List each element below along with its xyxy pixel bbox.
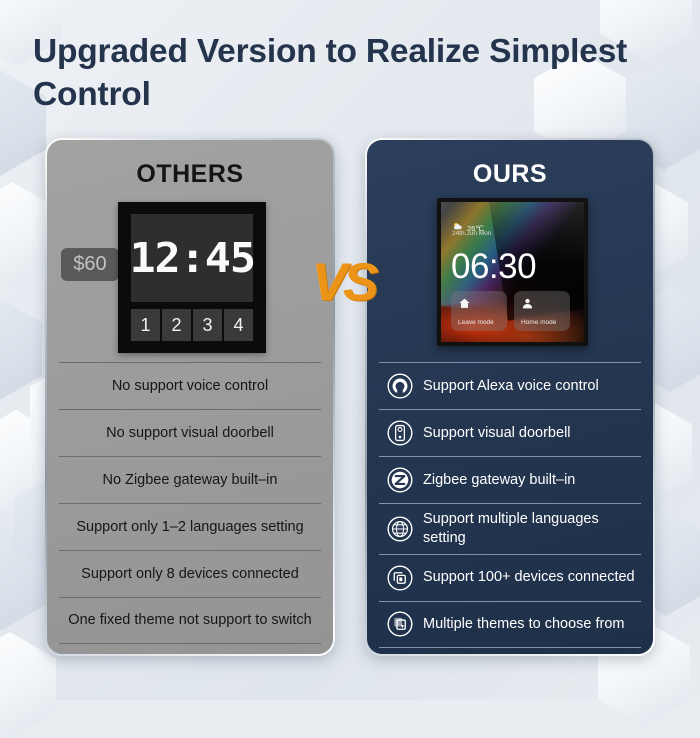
keypad-button[interactable]: 2 [162, 309, 191, 341]
zigbee-icon [386, 466, 414, 494]
leave-mode-card[interactable]: Leave mode [451, 291, 507, 331]
price-tag: $60 [61, 248, 119, 281]
keypad-button[interactable]: 1 [131, 309, 160, 341]
list-item: No support visual doorbell [59, 409, 321, 456]
mode-card-group: Leave mode Home mode [451, 291, 570, 331]
home-icon [458, 297, 471, 314]
feature-label: Support 100+ devices connected [423, 568, 635, 587]
feature-label: Support only 1–2 languages setting [76, 518, 303, 537]
list-item: No Zigbee gateway built–in [59, 456, 321, 503]
ours-feature-list: Support Alexa voice control Support visu… [379, 362, 641, 648]
doorbell-icon [386, 419, 414, 447]
panel-ours-heading: OURS [367, 160, 653, 189]
home-mode-label: Home mode [521, 319, 570, 326]
keypad-button[interactable]: 3 [193, 309, 222, 341]
list-item: Support visual doorbell [379, 409, 641, 456]
others-feature-list: No support voice control No support visu… [59, 362, 321, 644]
vs-badge: VS [312, 252, 375, 313]
list-item: Support Alexa voice control [379, 362, 641, 409]
keypad-button[interactable]: 4 [224, 309, 253, 341]
others-device-screen: 12:45 [131, 214, 253, 302]
panel-ours-inner: OURS 26℃ 24th.Jun Mon 06:30 [367, 140, 653, 654]
list-item: Support multiple languages setting [379, 503, 641, 554]
list-item: Multiple themes to choose from [379, 601, 641, 648]
panel-others: OTHERS $60 12:45 1 2 3 4 No support voic… [45, 138, 335, 656]
alexa-icon [386, 372, 414, 400]
panel-ours: OURS 26℃ 24th.Jun Mon 06:30 [365, 138, 655, 656]
home-mode-card[interactable]: Home mode [514, 291, 570, 331]
list-item: Support 100+ devices connected [379, 554, 641, 601]
feature-label: One fixed theme not support to switch [68, 611, 311, 630]
page-title: Upgraded Version to Realize Simplest Con… [33, 31, 678, 117]
feature-label: Zigbee gateway built–in [423, 471, 575, 490]
list-item: One fixed theme not support to switch [59, 597, 321, 644]
leave-mode-label: Leave mode [458, 319, 507, 326]
devices-icon [386, 564, 414, 592]
feature-label: No support visual doorbell [106, 424, 274, 443]
feature-label: No Zigbee gateway built–in [103, 471, 278, 490]
feature-label: Support multiple languages setting [423, 510, 637, 548]
list-item: Support only 8 devices connected [59, 550, 321, 597]
list-item: No support voice control [59, 362, 321, 409]
ours-device-screen: 26℃ 24th.Jun Mon 06:30 Leave mode [441, 202, 584, 342]
feature-label: Support visual doorbell [423, 424, 571, 443]
feature-label: Support only 8 devices connected [81, 565, 299, 584]
others-device: 12:45 1 2 3 4 [118, 202, 266, 353]
globe-icon [386, 515, 414, 543]
panel-others-inner: OTHERS $60 12:45 1 2 3 4 No support voic… [47, 140, 333, 654]
others-device-keypad: 1 2 3 4 [131, 309, 253, 341]
list-item: Support only 1–2 languages setting [59, 503, 321, 550]
date-label: 24th.Jun Mon [452, 230, 491, 237]
ours-device-time: 06:30 [451, 247, 536, 287]
others-device-time: 12:45 [129, 234, 255, 282]
feature-label: Multiple themes to choose from [423, 615, 624, 634]
feature-label: No support voice control [112, 377, 268, 396]
list-item: Zigbee gateway built–in [379, 456, 641, 503]
person-icon [521, 297, 534, 314]
ours-device: 26℃ 24th.Jun Mon 06:30 Leave mode [437, 198, 588, 346]
feature-label: Support Alexa voice control [423, 377, 599, 396]
panel-others-heading: OTHERS [47, 160, 333, 189]
themes-icon [386, 610, 414, 638]
